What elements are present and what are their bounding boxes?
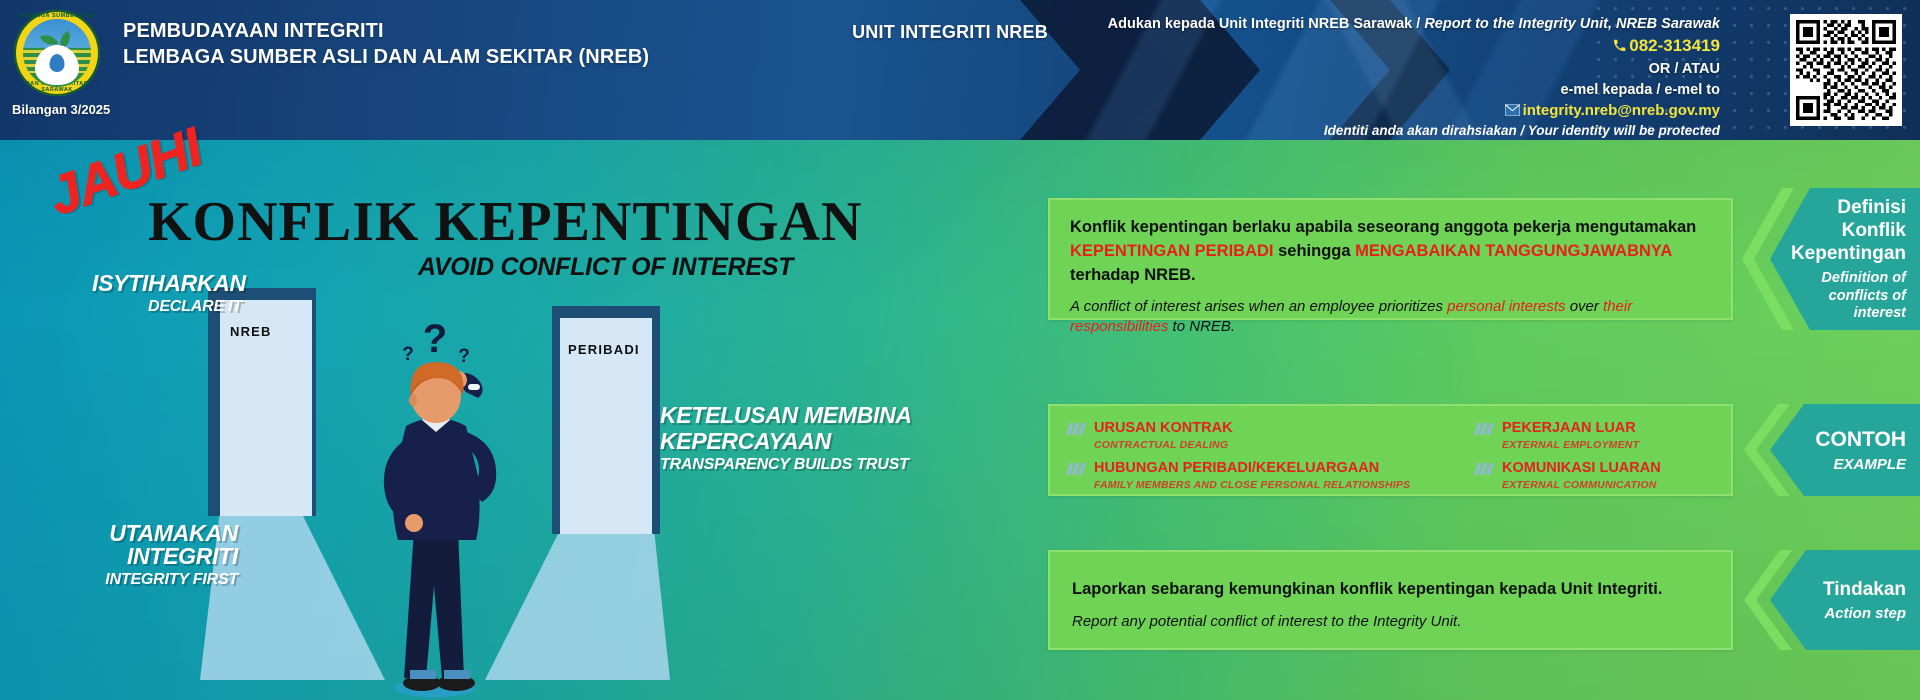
bars-icon xyxy=(1476,423,1495,435)
definition-en-seg2: over xyxy=(1566,298,1604,315)
definition-ms-highlight2: MENGABAIKAN TANGGUNGJAWABNYA xyxy=(1355,242,1672,260)
example-item-en: CONTRACTUAL DEALING xyxy=(1094,439,1233,452)
action-tab-en: Action step xyxy=(1824,605,1906,622)
definition-body-en: A conflict of interest arises when an em… xyxy=(1070,297,1711,338)
example-panel: URUSAN KONTRAK CONTRACTUAL DEALING PEKER… xyxy=(1048,404,1733,496)
action-body-ms: Laporkan sebarang kemungkinan konflik ke… xyxy=(1072,578,1709,601)
label-transparency-ms-1: KETELUSAN MEMBINA xyxy=(660,404,920,427)
org-line-1: PEMBUDAYAAN INTEGRITI xyxy=(123,18,649,44)
label-transparency-builds-trust: KETELUSAN MEMBINA KEPERCAYAAN TRANSPAREN… xyxy=(660,404,920,473)
definition-body-ms: Konflik kepentingan berlaku apabila sese… xyxy=(1070,216,1711,288)
definition-tab-en-1: Definition of xyxy=(1821,270,1906,287)
email-address[interactable]: integrity.nreb@nreb.gov.my xyxy=(1523,102,1720,119)
label-integrity-first: UTAMAKAN INTEGRITI INTEGRITY FIRST xyxy=(38,522,238,588)
svg-text:?: ? xyxy=(402,344,414,365)
phone-line[interactable]: 082-313419 xyxy=(1000,35,1720,59)
definition-tab-en-3: interest xyxy=(1821,305,1906,322)
definition-tab-ms-1: Definisi xyxy=(1791,196,1906,219)
nreb-logo: LEMBAGA SUMBER ASLI DAN ALAM SEKITAR SAR… xyxy=(14,10,100,96)
example-item-ms: URUSAN KONTRAK xyxy=(1094,420,1233,437)
phone-icon xyxy=(1613,36,1626,59)
page-title: KONFLIK KEPENTINGAN xyxy=(148,190,862,254)
door-label-nreb: NREB xyxy=(230,324,272,339)
example-item: PEKERJAAN LUAR EXTERNAL EMPLOYMENT xyxy=(1476,420,1721,452)
organization-title: PEMBUDAYAAN INTEGRITI LEMBAGA SUMBER ASL… xyxy=(123,18,649,71)
bars-icon xyxy=(1068,463,1087,475)
definition-en-seg3: to NREB. xyxy=(1168,318,1235,335)
action-tab-ms: Tindakan xyxy=(1823,579,1906,601)
or-text: OR / ATAU xyxy=(1000,59,1720,80)
example-item: KOMUNIKASI LUARAN EXTERNAL COMMUNICATION xyxy=(1476,460,1721,492)
two-doors-choice-illustration: ? ? ? NREB PERIBADI xyxy=(200,280,670,700)
definition-ms-seg3: terhadap NREB. xyxy=(1070,266,1196,284)
qr-code[interactable] xyxy=(1790,14,1902,126)
definition-tab-ms: Definisi Konflik Kepentingan xyxy=(1791,196,1906,266)
definition-tab-ms-2: Konflik xyxy=(1791,219,1906,242)
example-tab-en: EXAMPLE xyxy=(1833,456,1906,473)
contact-block: Adukan kepada Unit Integriti NREB Sarawa… xyxy=(1000,14,1720,140)
email-line[interactable]: integrity.nreb@nreb.gov.my xyxy=(1000,101,1720,122)
svg-text:?: ? xyxy=(423,317,447,361)
door-label-peribadi: PERIBADI xyxy=(568,342,640,357)
example-item-text: HUBUNGAN PERIBADI/KEKELUARGAAN FAMILY ME… xyxy=(1094,460,1410,492)
definition-ms-seg1: Konflik kepentingan berlaku apabila sese… xyxy=(1070,218,1696,236)
page-subtitle: AVOID CONFLICT OF INTEREST xyxy=(418,253,793,282)
definition-tab-en-2: conflicts of xyxy=(1821,288,1906,305)
issue-number: Bilangan 3/2025 xyxy=(12,102,110,117)
label-integrity-first-ms: UTAMAKAN INTEGRITI xyxy=(38,522,238,568)
example-item-ms: PEKERJAAN LUAR xyxy=(1502,420,1639,437)
example-item-en: FAMILY MEMBERS AND CLOSE PERSONAL RELATI… xyxy=(1094,479,1410,492)
label-declare-it: ISYTIHARKAN DECLARE IT xyxy=(92,272,242,315)
bars-icon xyxy=(1476,463,1495,475)
label-integrity-first-en: INTEGRITY FIRST xyxy=(38,572,238,588)
definition-tab-ms-3: Kepentingan xyxy=(1791,242,1906,265)
report-line: Adukan kepada Unit Integriti NREB Sarawa… xyxy=(1000,14,1720,35)
definition-en-seg1: A conflict of interest arises when an em… xyxy=(1070,298,1447,315)
example-tab-ms: CONTOH xyxy=(1815,428,1906,452)
envelope-icon xyxy=(1505,102,1520,122)
definition-tab-en: Definition of conflicts of interest xyxy=(1821,270,1906,322)
privacy-note: Identiti anda akan dirahsiakan / Your id… xyxy=(1000,122,1720,140)
example-item: HUBUNGAN PERIBADI/KEKELUARGAAN FAMILY ME… xyxy=(1068,460,1468,492)
report-en: Report to the Integrity Unit, NREB Saraw… xyxy=(1424,16,1720,32)
action-panel: Laporkan sebarang kemungkinan konflik ke… xyxy=(1048,550,1733,650)
email-label: e-mel kepada / e-mel to xyxy=(1000,80,1720,101)
label-declare-it-ms: ISYTIHARKAN xyxy=(92,272,242,295)
bars-icon xyxy=(1068,423,1087,435)
example-item-ms: KOMUNIKASI LUARAN xyxy=(1502,460,1661,477)
action-body-en: Report any potential conflict of interes… xyxy=(1072,612,1709,632)
example-item-text: URUSAN KONTRAK CONTRACTUAL DEALING xyxy=(1094,420,1233,452)
svg-text:?: ? xyxy=(458,346,470,367)
label-declare-it-en: DECLARE IT xyxy=(92,299,242,315)
report-ms: Adukan kepada Unit Integriti NREB Sarawa… xyxy=(1108,16,1413,32)
definition-ms-highlight1: KEPENTINGAN PERIBADI xyxy=(1070,242,1274,260)
definition-en-highlight1: personal interests xyxy=(1447,298,1565,315)
header-bar: LEMBAGA SUMBER ASLI DAN ALAM SEKITAR SAR… xyxy=(0,0,1920,140)
example-item-en: EXTERNAL EMPLOYMENT xyxy=(1502,439,1639,452)
example-item-text: KOMUNIKASI LUARAN EXTERNAL COMMUNICATION xyxy=(1502,460,1661,492)
org-line-2: LEMBAGA SUMBER ASLI DAN ALAM SEKITAR (NR… xyxy=(123,44,649,70)
label-transparency-en: TRANSPARENCY BUILDS TRUST xyxy=(660,457,920,473)
report-separator: / xyxy=(1416,16,1420,32)
example-item-en: EXTERNAL COMMUNICATION xyxy=(1502,479,1661,492)
example-grid: URUSAN KONTRAK CONTRACTUAL DEALING PEKER… xyxy=(1068,420,1721,492)
label-transparency-ms-2: KEPERCAYAAN xyxy=(660,430,920,453)
definition-ms-seg2: sehingga xyxy=(1274,242,1356,260)
example-item-ms: HUBUNGAN PERIBADI/KEKELUARGAAN xyxy=(1094,460,1410,477)
example-item-text: PEKERJAAN LUAR EXTERNAL EMPLOYMENT xyxy=(1502,420,1639,452)
infographic-poster: LEMBAGA SUMBER ASLI DAN ALAM SEKITAR SAR… xyxy=(0,0,1920,700)
definition-panel: Konflik kepentingan berlaku apabila sese… xyxy=(1048,198,1733,320)
phone-number[interactable]: 082-313419 xyxy=(1629,36,1720,55)
logo-water-drop-icon xyxy=(50,54,65,72)
example-item: URUSAN KONTRAK CONTRACTUAL DEALING xyxy=(1068,420,1468,452)
logo-emblem xyxy=(23,19,91,87)
